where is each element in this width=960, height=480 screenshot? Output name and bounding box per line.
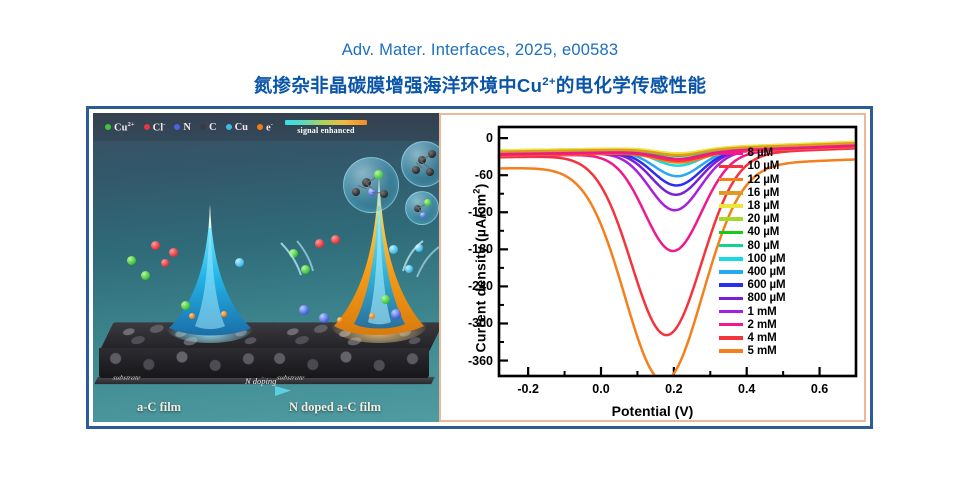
legend-item[interactable]: 10 µM <box>719 160 786 173</box>
chloride-dot-icon <box>144 124 150 130</box>
legend-color-swatch <box>719 349 743 353</box>
illus-legend-label: Cu <box>235 122 248 133</box>
legend-color-swatch <box>719 151 743 155</box>
legend-color-swatch <box>719 191 743 195</box>
nitrogen-dot-icon <box>174 124 180 130</box>
legend-color-swatch <box>719 231 743 235</box>
ion-motion-streaks <box>275 239 337 301</box>
legend-color-swatch <box>719 310 743 314</box>
legend-item[interactable]: 16 µM <box>719 187 786 200</box>
legend-color-swatch <box>719 204 743 208</box>
legend-color-swatch <box>719 178 743 182</box>
x-axis-label: Potential (V) <box>441 403 864 419</box>
illus-legend-item-carbon: C <box>200 122 217 133</box>
legend-item[interactable]: 8 µM <box>719 147 786 160</box>
legend-label: 600 µM <box>748 279 786 291</box>
illus-legend-label: e- <box>266 121 273 134</box>
legend-item[interactable]: 100 µM <box>719 253 786 266</box>
legend-label: 80 µM <box>748 240 780 252</box>
legend-item[interactable]: 400 µM <box>719 266 786 279</box>
legend-label: 10 µM <box>748 160 780 172</box>
ion-chloride <box>161 259 169 267</box>
ion-copper <box>235 258 244 267</box>
legend-color-swatch <box>719 336 743 340</box>
legend-label: 16 µM <box>748 187 780 199</box>
molecule-bubble-large <box>343 157 399 213</box>
legend-color-swatch <box>719 297 743 301</box>
legend-label: 20 µM <box>748 213 780 225</box>
ion-electron <box>189 313 195 319</box>
carbon-dot-icon <box>200 124 206 130</box>
illus-legend-label: N <box>183 122 191 133</box>
ion-cu2plus <box>181 301 190 310</box>
ion-cu2plus <box>141 271 150 280</box>
molecule-bubble-small <box>405 191 439 225</box>
molecule-bubble-medium <box>401 141 439 187</box>
ion-cu2plus <box>381 295 390 304</box>
illustration-legend: Cu2+Cl-NCCue-signal enhanced <box>93 113 439 141</box>
n-doping-arrow-icon <box>235 382 293 398</box>
illus-legend-item-nitrogen: N <box>174 122 191 133</box>
legend-label: 800 µM <box>748 292 786 304</box>
legend-color-swatch <box>719 270 743 274</box>
signal-gradient-bar <box>285 120 367 125</box>
illus-legend-label: Cu2+ <box>114 121 135 134</box>
illus-legend-item-cu2plus: Cu2+ <box>105 121 135 134</box>
ion-nitrogen <box>391 309 401 319</box>
legend-label: 400 µM <box>748 266 786 278</box>
legend-item[interactable]: 12 µM <box>719 173 786 186</box>
cv-curve-5mM <box>499 159 856 380</box>
schematic-illustration: Cu2+Cl-NCCue-signal enhanced substrate s… <box>93 113 439 422</box>
illus-legend-item-copper: Cu <box>226 122 248 133</box>
legend-item[interactable]: 18 µM <box>719 200 786 213</box>
ion-cu2plus <box>127 256 136 265</box>
chart-legend: 8 µM10 µM12 µM16 µM18 µM20 µM40 µM80 µM1… <box>719 147 786 358</box>
legend-item[interactable]: 1 mM <box>719 305 786 318</box>
ion-nitrogen <box>299 305 309 315</box>
legend-item[interactable]: 600 µM <box>719 279 786 292</box>
illus-legend-label: C <box>209 122 217 133</box>
signal-enhanced-indicator: signal enhanced <box>285 120 367 135</box>
legend-color-swatch <box>719 323 743 327</box>
copper-dot-icon <box>226 124 232 130</box>
legend-item[interactable]: 20 µM <box>719 213 786 226</box>
page-title-part2: 的电化学传感性能 <box>556 75 706 96</box>
legend-item[interactable]: 80 µM <box>719 239 786 252</box>
legend-color-swatch <box>719 217 743 221</box>
ion-electron <box>369 313 375 319</box>
cv-curves-plot <box>441 115 864 420</box>
legend-color-swatch <box>719 257 743 261</box>
legend-label: 4 mM <box>748 332 777 344</box>
ion-electron <box>337 317 343 323</box>
legend-label: 40 µM <box>748 226 780 238</box>
ion-chloride <box>151 241 160 250</box>
substrate-label-right: substrate <box>276 374 306 382</box>
electron-motion-streaks <box>393 237 439 293</box>
electron-dot-icon <box>257 124 263 130</box>
journal-citation: Adv. Mater. Interfaces, 2025, e00583 <box>0 41 960 60</box>
ion-nitrogen <box>319 313 329 323</box>
cv-chart-panel: Current density (µA/cm2) 0-60-120-180-24… <box>439 113 866 422</box>
legend-label: 2 mM <box>748 319 777 331</box>
legend-label: 100 µM <box>748 253 786 265</box>
film-label-a-c: a-C film <box>137 400 181 415</box>
substrate-label-left: substrate <box>112 374 142 382</box>
illus-legend-item-electron: e- <box>257 121 273 134</box>
page-title-superscript: 2+ <box>542 76 556 88</box>
page-title-part1: 氮掺杂非晶碳膜增强海洋环境中Cu <box>254 75 542 96</box>
signal-enhanced-label: signal enhanced <box>297 126 354 135</box>
legend-item[interactable]: 5 mM <box>719 345 786 358</box>
legend-label: 12 µM <box>748 174 780 186</box>
illus-legend-label: Cl- <box>153 121 166 134</box>
legend-color-swatch <box>719 244 743 248</box>
illus-legend-item-chloride: Cl- <box>144 121 166 134</box>
cu2plus-dot-icon <box>105 124 111 130</box>
signal-peak-blue <box>165 202 255 352</box>
legend-label: 18 µM <box>748 200 780 212</box>
legend-color-swatch <box>719 165 743 169</box>
ion-chloride <box>169 248 178 257</box>
legend-item[interactable]: 4 mM <box>719 332 786 345</box>
page-title: 氮掺杂非晶碳膜增强海洋环境中Cu2+的电化学传感性能 <box>0 72 960 98</box>
graphical-abstract-frame: Cu2+Cl-NCCue-signal enhanced substrate s… <box>86 106 873 429</box>
legend-label: 1 mM <box>748 306 777 318</box>
legend-item[interactable]: 40 µM <box>719 226 786 239</box>
legend-label: 8 µM <box>748 147 773 159</box>
legend-item[interactable]: 800 µM <box>719 292 786 305</box>
legend-item[interactable]: 2 mM <box>719 318 786 331</box>
legend-label: 5 mM <box>748 345 777 357</box>
film-label-n-doped: N doped a-C film <box>289 400 381 415</box>
ion-electron <box>221 311 227 317</box>
legend-color-swatch <box>719 283 743 287</box>
